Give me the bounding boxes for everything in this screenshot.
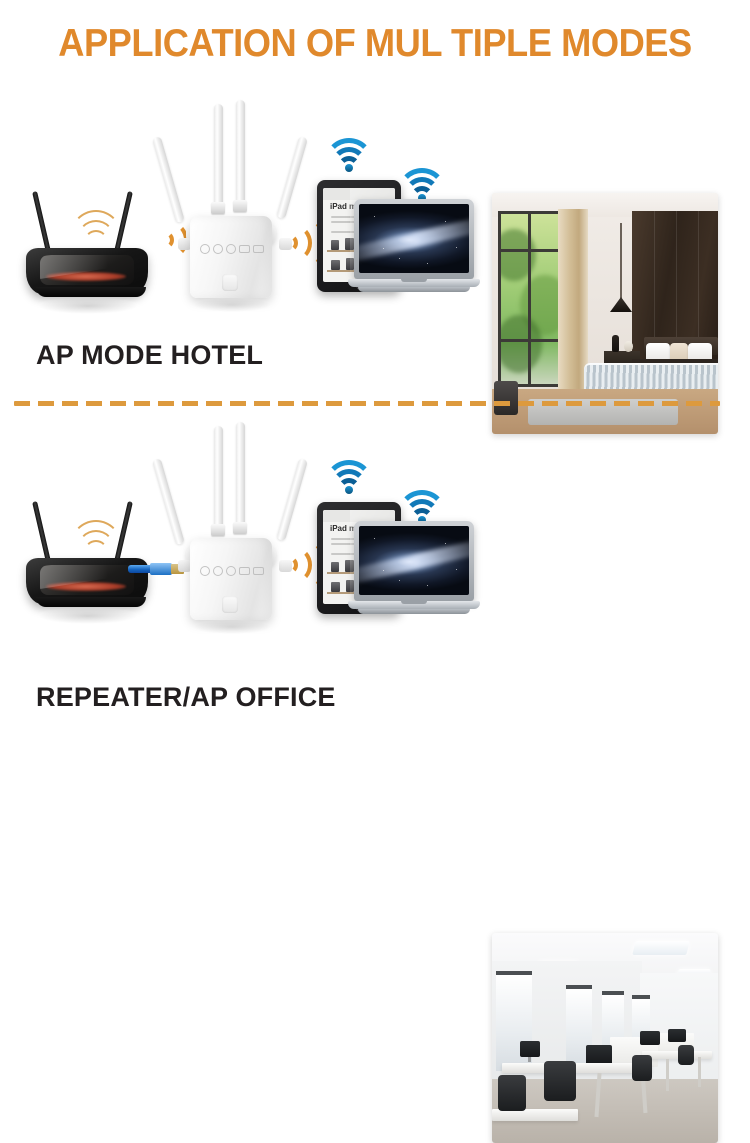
laptop-lid bbox=[354, 199, 474, 279]
office-chair bbox=[678, 1045, 694, 1065]
monitor bbox=[520, 1041, 540, 1057]
wps-led-icon bbox=[213, 566, 223, 576]
desk bbox=[502, 1063, 652, 1073]
extender-antenna-right bbox=[276, 458, 308, 541]
router-antenna-left bbox=[32, 191, 51, 253]
wireless-router bbox=[22, 190, 152, 300]
laptop-screen bbox=[359, 204, 469, 273]
laptop-notch bbox=[401, 279, 427, 282]
mode-label-office: REPEATER/AP OFFICE bbox=[36, 682, 336, 713]
extender-antenna-right bbox=[276, 136, 308, 219]
extender-antenna-left bbox=[152, 458, 185, 545]
laptop-device bbox=[348, 199, 480, 297]
extender-antenna-hinge bbox=[233, 522, 247, 534]
wps-led-icon bbox=[213, 244, 223, 254]
router-reflection bbox=[38, 608, 138, 624]
monitor bbox=[640, 1031, 660, 1045]
router-antenna-left bbox=[32, 501, 51, 563]
window bbox=[498, 211, 564, 387]
laptop-screen bbox=[359, 526, 469, 595]
router-signal-fan-icon bbox=[66, 506, 122, 562]
router-reflection bbox=[38, 298, 138, 314]
extender-antenna-center-left bbox=[214, 426, 223, 530]
extender-reflection bbox=[194, 298, 270, 312]
monitor bbox=[586, 1045, 612, 1065]
extender-led-indicators bbox=[200, 244, 264, 253]
wifi-icon bbox=[400, 490, 444, 524]
router-base bbox=[36, 597, 146, 607]
extender-antenna-center-left bbox=[214, 104, 223, 208]
monitor bbox=[668, 1029, 686, 1042]
laptop-lid bbox=[354, 521, 474, 601]
laptop-foot bbox=[358, 287, 470, 292]
laptop-notch bbox=[401, 601, 427, 604]
office-chair bbox=[498, 1075, 526, 1111]
extender-antenna-hinge bbox=[233, 200, 247, 212]
router-face bbox=[40, 565, 134, 595]
extender-reflection bbox=[194, 620, 270, 634]
router-body bbox=[26, 248, 148, 294]
office-chair bbox=[544, 1061, 576, 1101]
mode-label-hotel: AP MODE HOTEL bbox=[36, 340, 263, 371]
power-led-icon bbox=[200, 244, 210, 254]
section-repeater-ap-office: iPad m bbox=[0, 425, 750, 725]
wireless-router bbox=[22, 500, 152, 610]
wan-led-icon bbox=[253, 245, 264, 253]
section-divider bbox=[14, 401, 720, 406]
extender-led-indicators bbox=[200, 566, 264, 575]
power-led-icon bbox=[200, 566, 210, 576]
extender-wps-button[interactable] bbox=[222, 596, 238, 613]
office-room-photo bbox=[492, 933, 718, 1143]
extender-antenna-center-right bbox=[236, 422, 245, 530]
extender-antenna-center-right bbox=[236, 100, 245, 208]
office-chair bbox=[632, 1055, 652, 1081]
wan-led-icon bbox=[253, 567, 264, 575]
extender-wps-button[interactable] bbox=[222, 274, 238, 291]
armchair bbox=[494, 381, 518, 415]
wifi-led-icon bbox=[226, 566, 236, 576]
extender-antenna-hinge bbox=[211, 202, 225, 214]
wifi-icon bbox=[327, 138, 371, 172]
wifi-icon bbox=[400, 168, 444, 202]
marketing-image: APPLICATION OF MUL TIPLE MODES bbox=[0, 0, 750, 750]
extender-antenna-hinge bbox=[211, 524, 225, 536]
page-title: APPLICATION OF MUL TIPLE MODES bbox=[26, 22, 724, 66]
desk bbox=[642, 1051, 712, 1059]
wifi-led-icon bbox=[226, 244, 236, 254]
laptop-device bbox=[348, 521, 480, 619]
laptop-foot bbox=[358, 609, 470, 614]
hotel-room-photo bbox=[492, 193, 718, 434]
lan-led-icon bbox=[239, 567, 250, 575]
router-signal-fan-icon bbox=[66, 196, 122, 252]
lan-led-icon bbox=[239, 245, 250, 253]
router-face bbox=[40, 255, 134, 285]
wifi-icon bbox=[327, 460, 371, 494]
router-base bbox=[36, 287, 146, 297]
